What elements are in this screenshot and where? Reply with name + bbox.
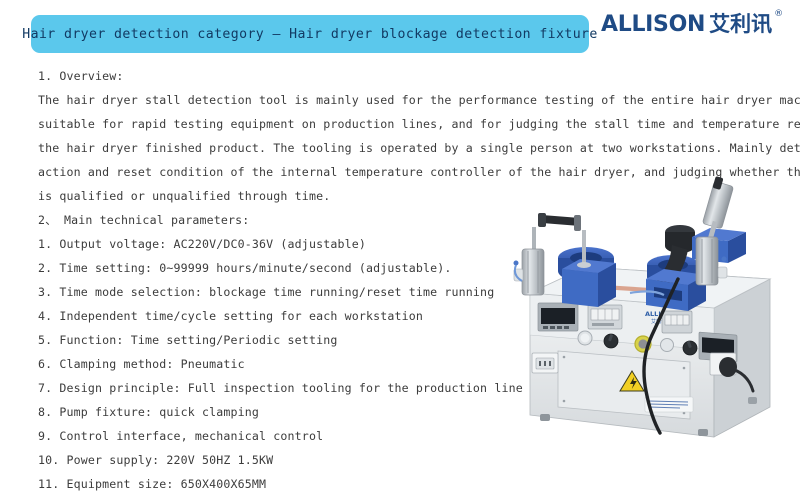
brand-logo-word: ALLISON <box>601 14 705 36</box>
title-banner: Hair dryer detection category – Hair dry… <box>31 15 589 53</box>
overview-heading: 1. Overview: <box>38 64 758 88</box>
panel-timer-right <box>662 311 692 333</box>
overview-line: suitable for rapid testing equipment on … <box>38 112 758 136</box>
panel-display-left <box>538 303 578 331</box>
brand-logo: ALLISON 艾利讯 ® <box>601 14 783 36</box>
parameter-item: 10. Power supply: 220V 50HZ 1.5KW <box>38 448 758 472</box>
panel-button-right <box>661 339 674 352</box>
page-header: Hair dryer detection category – Hair dry… <box>0 0 800 62</box>
registered-trademark-icon: ® <box>774 9 783 19</box>
power-socket-left <box>532 353 558 373</box>
overview-line: The hair dryer stall detection tool is m… <box>38 88 758 112</box>
brand-logo-chinese: 艾利讯 <box>709 14 772 35</box>
panel-timer-left <box>588 305 622 329</box>
workstation-left <box>514 213 617 307</box>
page-title: Hair dryer detection category – Hair dry… <box>22 27 597 42</box>
product-photo: ALLISON 艾利讯 <box>512 175 790 443</box>
pneumatic-cylinder-left <box>514 227 545 295</box>
parameter-item: 11. Equipment size: 650X400X65MM <box>38 472 758 496</box>
overview-line: the hair dryer finished product. The too… <box>38 136 758 160</box>
